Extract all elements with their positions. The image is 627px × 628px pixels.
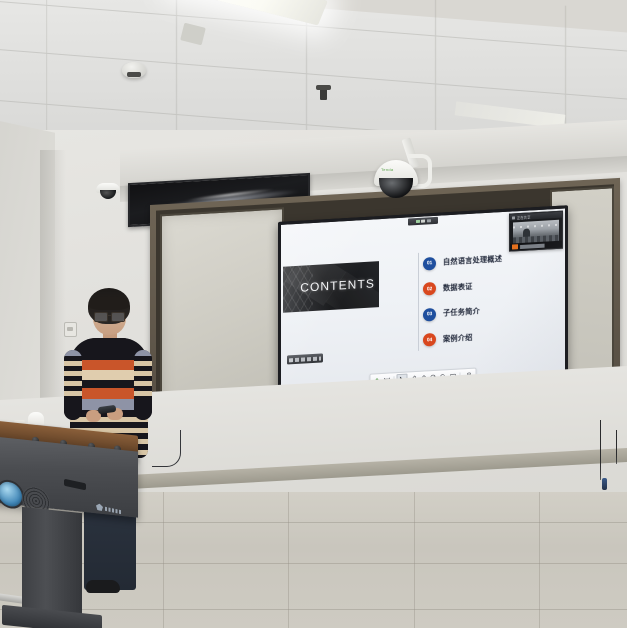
lectern-clock <box>0 477 24 511</box>
video-share-badge <box>512 244 518 249</box>
university-crest-icon <box>96 503 103 511</box>
screen-top-control-widget[interactable] <box>408 217 438 226</box>
slide-agenda-list: 01 自然语言处理概述 02 数据表证 03 子任务简介 04 案例介绍 <box>423 245 563 355</box>
presenter-right-arm <box>134 350 152 420</box>
taskbar-chip[interactable] <box>287 353 323 364</box>
classroom-scene: Tenda CONTENTS 01 自然语言处理概述 <box>0 0 627 628</box>
taskbar-chip-icon <box>289 358 293 362</box>
lectern[interactable] <box>0 418 140 628</box>
floor-cable <box>152 430 181 467</box>
video-participant-label <box>520 242 561 248</box>
presenter-left-arm <box>64 350 82 420</box>
agenda-item-label: 自然语言处理概述 <box>443 254 502 267</box>
taskbar-chip-label <box>295 356 321 361</box>
smoke-detector-icon <box>122 62 146 78</box>
ptz-camera-icon: Tenda <box>372 140 432 202</box>
cable-plug <box>602 478 607 490</box>
slide-divider <box>418 253 419 351</box>
agenda-item-label: 子任务简介 <box>443 306 480 318</box>
list-item: 04 案例介绍 <box>423 321 563 351</box>
presenter-glasses <box>93 312 126 320</box>
agenda-number-badge: 02 <box>423 282 436 296</box>
agenda-item-label: 数据表证 <box>443 281 473 293</box>
hanging-cable <box>600 420 601 480</box>
lectern-control-slot[interactable] <box>64 479 86 491</box>
display-screen[interactable]: CONTENTS 01 自然语言处理概述 02 数据表证 03 子任务简介 <box>281 208 565 394</box>
ptz-camera-brand: Tenda <box>381 167 393 172</box>
fire-sprinkler-icon <box>320 88 327 100</box>
agenda-item-label: 案例介绍 <box>443 332 473 344</box>
whiteboard-panel-left[interactable] <box>160 207 284 408</box>
video-window-icon <box>512 216 515 219</box>
agenda-number-badge: 04 <box>423 333 436 347</box>
lectern-body <box>0 436 138 517</box>
video-conference-window[interactable]: 正在共享 <box>509 211 563 252</box>
video-window-title: 正在共享 <box>517 214 531 220</box>
agenda-number-badge: 01 <box>423 256 436 270</box>
slide-contents-graphic: CONTENTS <box>283 261 379 313</box>
lectern-column <box>22 507 82 623</box>
lectern-logo <box>96 502 122 516</box>
dome-camera-icon <box>96 183 120 200</box>
lectern-logo-text <box>105 506 123 514</box>
hanging-cable-secondary <box>616 430 617 464</box>
agenda-number-badge: 03 <box>423 307 436 321</box>
list-item: 03 子任务简介 <box>423 296 563 326</box>
presenter-fringe <box>89 296 129 310</box>
list-item: 02 数据表证 <box>423 270 563 300</box>
